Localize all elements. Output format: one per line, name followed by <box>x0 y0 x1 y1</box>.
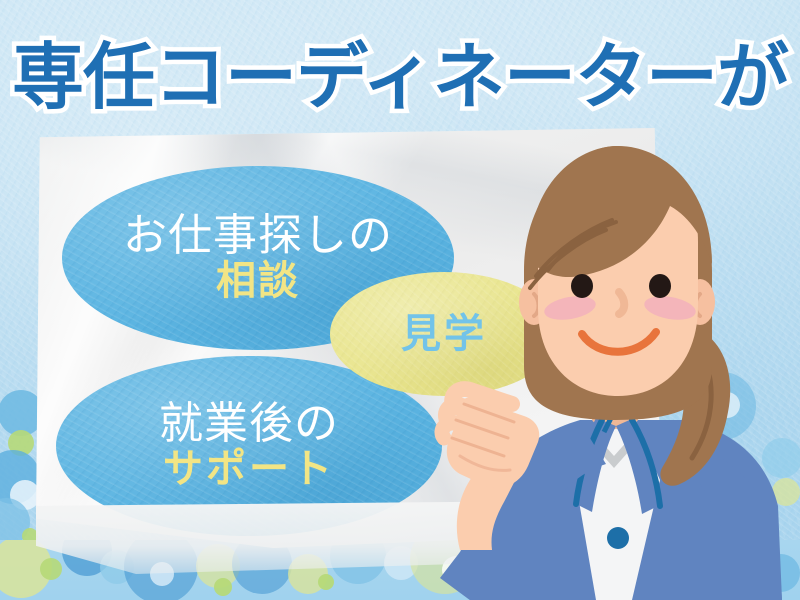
decor-bubble <box>318 574 334 590</box>
businesswoman-illustration <box>430 120 800 600</box>
poster-canvas: お仕事探しの 相談 就業後の サポート 見学 <box>0 0 800 600</box>
eye-left <box>571 274 593 298</box>
page-headline: 専任コーディネーターが <box>0 18 800 123</box>
suit-button <box>607 527 629 549</box>
bubble-line-text: 就業後の <box>159 402 339 447</box>
eye-right <box>649 274 671 298</box>
bubble-line-text: 相談 <box>216 261 300 302</box>
decor-bubble <box>40 558 62 580</box>
bubble-line-text: サポート <box>163 449 335 490</box>
decor-bubble <box>214 578 232 596</box>
bubble-line-text: お仕事探しの <box>123 214 393 259</box>
